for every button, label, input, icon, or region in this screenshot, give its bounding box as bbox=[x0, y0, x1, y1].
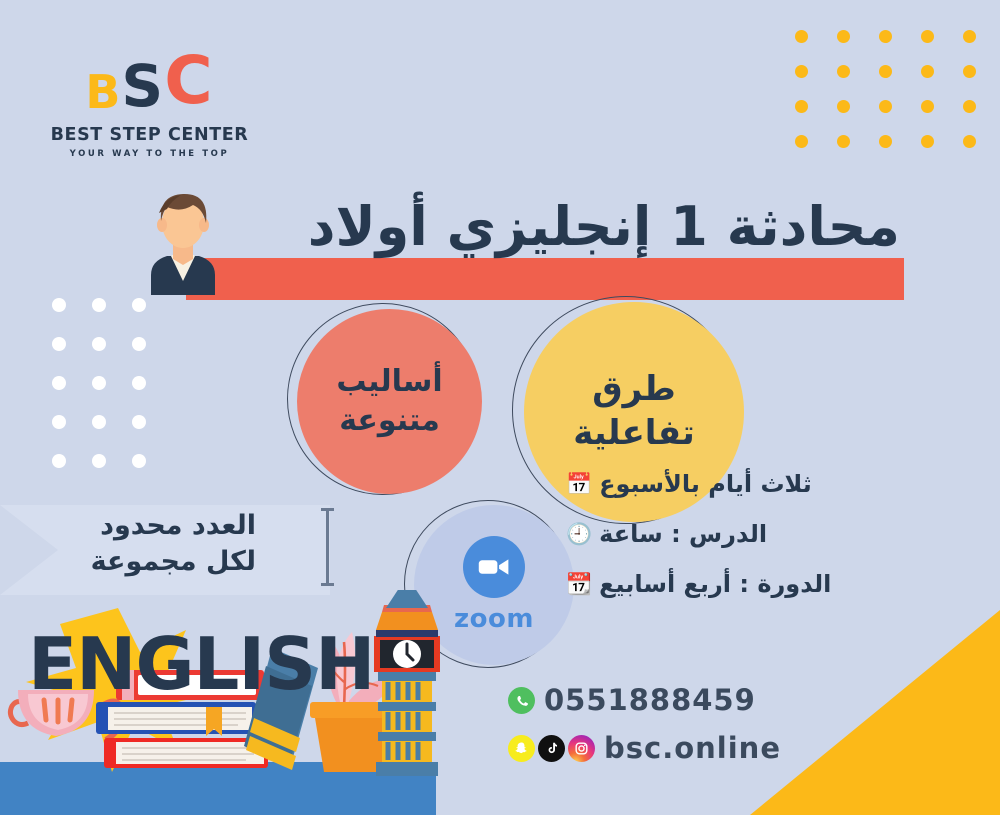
clock-icon: 🕘 bbox=[566, 524, 592, 545]
dot bbox=[837, 65, 850, 78]
whatsapp-icon[interactable] bbox=[508, 687, 535, 714]
schedule-row: 📆 الدورة : أربع أسابيع bbox=[566, 570, 986, 598]
limited-seats-text: العدد محدودلكل مجموعة bbox=[0, 508, 300, 579]
dot bbox=[921, 100, 934, 113]
dot bbox=[921, 65, 934, 78]
schedule-label: ثلاث أيام بالأسبوع bbox=[599, 470, 812, 498]
ribbon-divider bbox=[326, 508, 329, 586]
snapchat-icon[interactable] bbox=[508, 735, 535, 762]
dot bbox=[132, 337, 146, 351]
dot bbox=[879, 65, 892, 78]
dot bbox=[92, 376, 106, 390]
dot bbox=[795, 100, 808, 113]
page-title: محادثة 1 إنجليزي أولاد bbox=[140, 196, 900, 258]
schedule-info-list: 📅 ثلاث أيام بالأسبوع 🕘 الدرس : ساعة 📆 ال… bbox=[566, 470, 986, 620]
calendar-icon: 📆 bbox=[566, 574, 592, 595]
tiktok-icon[interactable] bbox=[538, 735, 565, 762]
logo-letter-s: S bbox=[121, 52, 164, 120]
schedule-row: 📅 ثلاث أيام بالأسبوع bbox=[566, 470, 986, 498]
schedule-label: الدورة : أربع أسابيع bbox=[599, 570, 831, 598]
dot bbox=[795, 135, 808, 148]
zoom-wordmark: zoom bbox=[454, 604, 534, 634]
feature-circle-varied-methods: أساليبمتنوعة bbox=[287, 303, 487, 503]
dot-grid-left bbox=[52, 298, 172, 493]
dot bbox=[837, 135, 850, 148]
dot-grid-top-right bbox=[795, 30, 1000, 170]
dot bbox=[837, 30, 850, 43]
dot bbox=[52, 454, 66, 468]
dot bbox=[52, 376, 66, 390]
dot bbox=[132, 415, 146, 429]
logo-monogram: BSC bbox=[42, 48, 257, 116]
contact-block: 0551888459 bbox=[508, 683, 908, 779]
dot bbox=[92, 298, 106, 312]
schedule-row: 🕘 الدرس : ساعة bbox=[566, 520, 986, 548]
dot bbox=[132, 376, 146, 390]
calendar-icon: 📅 bbox=[566, 474, 592, 495]
dot bbox=[963, 30, 976, 43]
dot bbox=[921, 135, 934, 148]
dot bbox=[879, 135, 892, 148]
dot bbox=[52, 337, 66, 351]
dot bbox=[132, 298, 146, 312]
dot bbox=[795, 30, 808, 43]
dot bbox=[92, 337, 106, 351]
brand-name: BEST STEP CENTER bbox=[42, 125, 257, 145]
phone-number: 0551888459 bbox=[544, 683, 756, 717]
logo-letter-c: C bbox=[164, 42, 213, 119]
dot bbox=[963, 65, 976, 78]
title-highlight-bar bbox=[186, 258, 904, 300]
feature-label-varied-methods: أساليبمتنوعة bbox=[336, 363, 442, 440]
dot bbox=[795, 65, 808, 78]
promo-poster: BSC BEST STEP CENTER YOUR WAY TO THE TOP… bbox=[0, 0, 1000, 815]
social-icon-group[interactable] bbox=[508, 735, 595, 762]
dot bbox=[879, 100, 892, 113]
feature-label-interactive-ways: طرقتفاعلية bbox=[573, 368, 695, 455]
logo-letter-b: B bbox=[85, 65, 121, 119]
circle-disc: أساليبمتنوعة bbox=[297, 309, 482, 494]
english-wordmark: ENGLISH bbox=[28, 628, 374, 700]
dot bbox=[921, 30, 934, 43]
dot bbox=[963, 100, 976, 113]
dot bbox=[52, 415, 66, 429]
dot bbox=[132, 454, 146, 468]
dot bbox=[879, 30, 892, 43]
dot bbox=[52, 298, 66, 312]
schedule-label: الدرس : ساعة bbox=[599, 520, 767, 548]
instagram-icon[interactable] bbox=[568, 735, 595, 762]
dot bbox=[92, 415, 106, 429]
dot bbox=[837, 100, 850, 113]
brand-tagline: YOUR WAY TO THE TOP bbox=[42, 149, 257, 159]
brand-logo: BSC BEST STEP CENTER YOUR WAY TO THE TOP bbox=[42, 48, 257, 159]
social-row[interactable]: bsc.online bbox=[508, 731, 908, 765]
phone-row[interactable]: 0551888459 bbox=[508, 683, 908, 717]
dot bbox=[92, 454, 106, 468]
video-camera-icon bbox=[463, 536, 525, 598]
social-handle: bsc.online bbox=[604, 731, 781, 765]
dot bbox=[963, 135, 976, 148]
